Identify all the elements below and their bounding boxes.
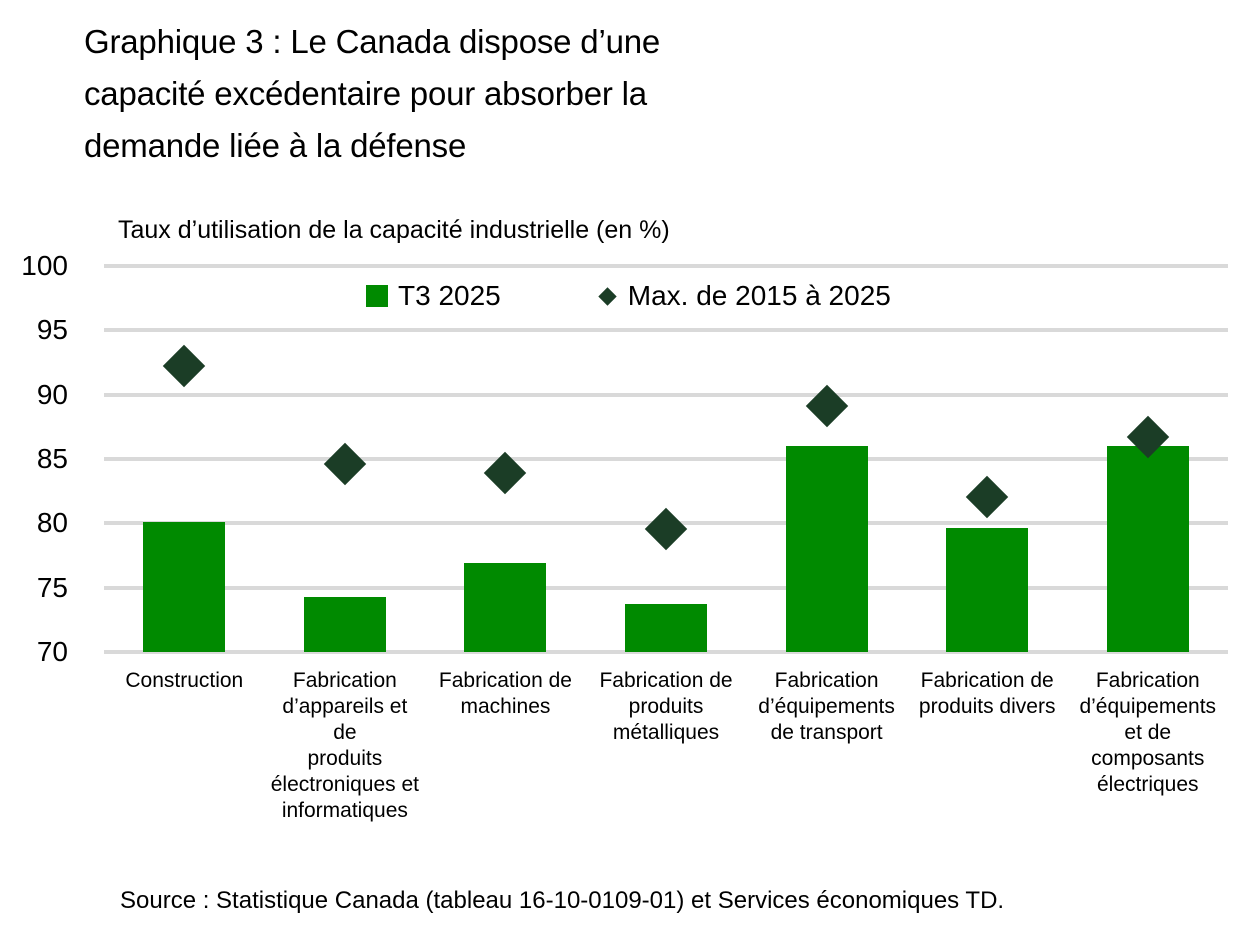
x-axis-category-label: Fabrication d’équipements et de composan…: [1067, 668, 1228, 824]
legend-diamond-swatch-icon: [598, 287, 616, 305]
max-marker-diamond-icon: [645, 508, 687, 550]
bar: [1107, 446, 1189, 652]
y-axis-tick-label: 80: [0, 509, 68, 537]
gridline: [104, 264, 1228, 268]
y-axis-tick-label: 85: [0, 445, 68, 473]
bar: [464, 563, 546, 652]
plot-area: 707580859095100: [104, 266, 1228, 652]
legend-label-t3-2025: T3 2025: [398, 280, 501, 312]
gridline: [104, 328, 1228, 332]
max-marker-diamond-icon: [324, 443, 366, 485]
max-marker-diamond-icon: [805, 385, 847, 427]
gridline: [104, 586, 1228, 590]
x-axis-category-label: Construction: [104, 668, 265, 824]
max-marker-diamond-icon: [966, 476, 1008, 518]
bar: [304, 597, 386, 652]
y-axis-tick-label: 100: [0, 252, 68, 280]
legend-item-t3-2025[interactable]: T3 2025: [366, 280, 501, 312]
x-axis-category-label: Fabrication de machines: [425, 668, 586, 824]
y-axis-tick-label: 95: [0, 316, 68, 344]
x-axis-category-label: Fabrication d’appareils et de produits é…: [265, 668, 426, 824]
x-axis-category-label: Fabrication d’équipements de transport: [746, 668, 907, 824]
gridline: [104, 457, 1228, 461]
axis-caption: Taux d’utilisation de la capacité indust…: [118, 214, 670, 246]
legend-item-max-2015-2025[interactable]: Max. de 2015 à 2025: [597, 280, 891, 312]
y-axis-tick-label: 75: [0, 574, 68, 602]
legend-square-swatch-icon: [366, 285, 388, 307]
gridline: [104, 393, 1228, 397]
source-note: Source : Statistique Canada (tableau 16-…: [120, 886, 1004, 916]
page-title: Graphique 3 : Le Canada dispose d’une ca…: [84, 16, 984, 172]
bar: [786, 446, 868, 652]
bar: [625, 604, 707, 652]
legend-label-max-2015-2025: Max. de 2015 à 2025: [628, 280, 891, 312]
chart-legend: T3 2025 Max. de 2015 à 2025: [366, 280, 891, 312]
bar: [143, 522, 225, 652]
y-axis-tick-label: 70: [0, 638, 68, 666]
bar: [946, 528, 1028, 652]
x-axis-category-label: Fabrication de produits métalliques: [586, 668, 747, 824]
y-axis-tick-label: 90: [0, 381, 68, 409]
x-axis-category-label: Fabrication de produits divers: [907, 668, 1068, 824]
x-axis-category-labels: ConstructionFabrication d’appareils et d…: [104, 668, 1228, 824]
max-marker-diamond-icon: [163, 345, 205, 387]
